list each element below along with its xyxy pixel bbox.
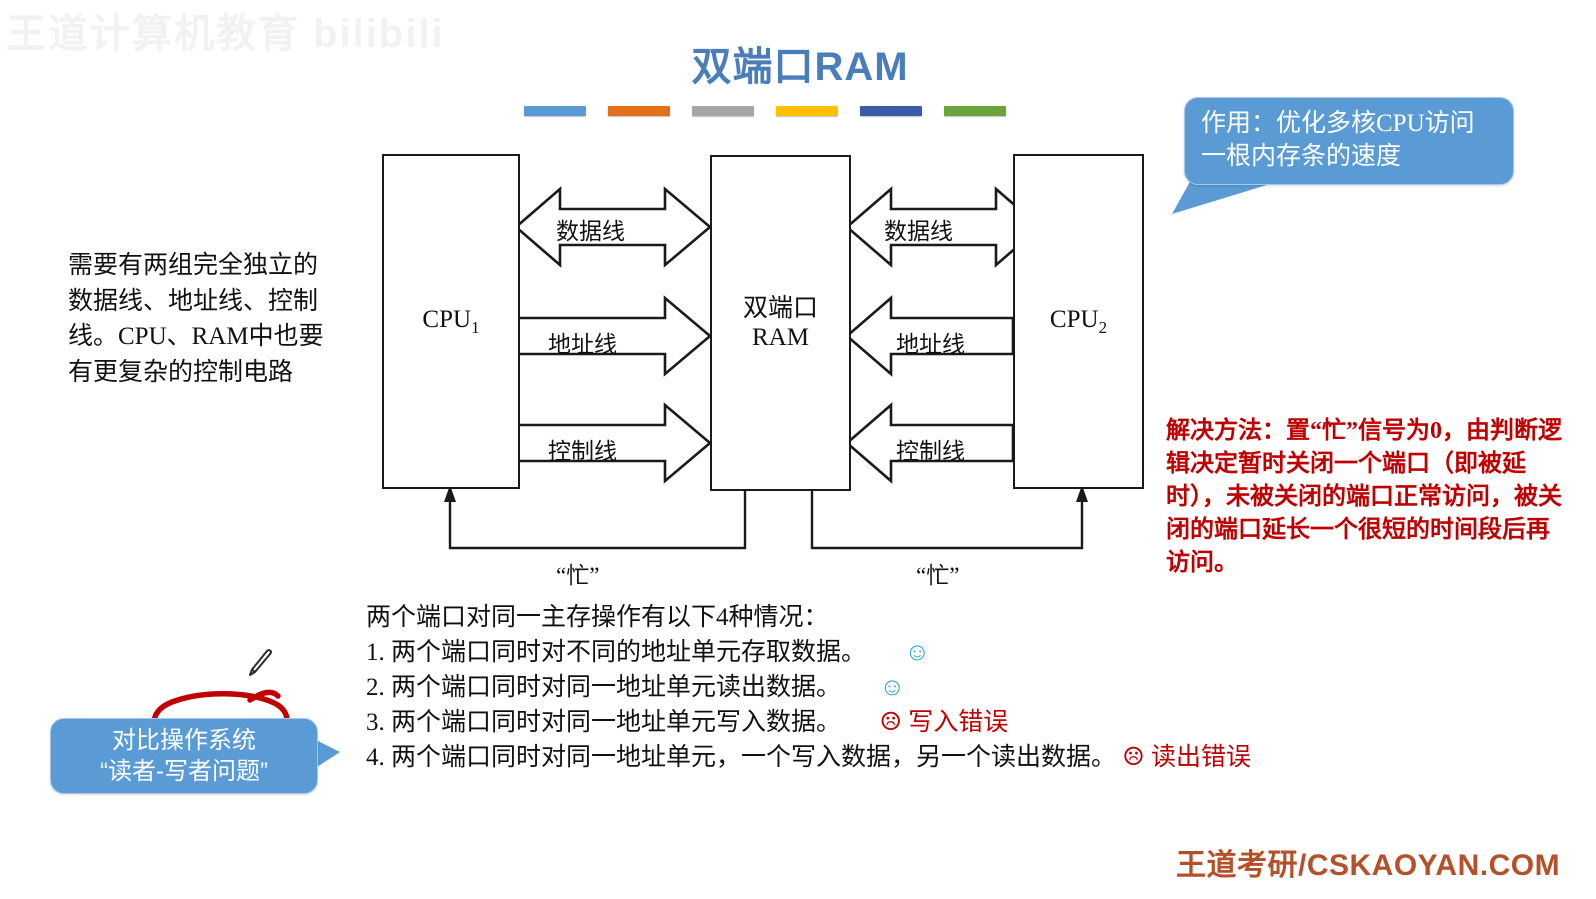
- cases-list: 两个端口对同一主存操作有以下4种情况： 1. 两个端口同时对不同的地址单元存取数…: [366, 600, 1446, 775]
- list-item-number: 1.: [366, 639, 385, 666]
- list-item-text: 两个端口同时对同一地址单元，一个写入数据，另一个读出数据。: [391, 744, 1116, 771]
- pen-cursor-icon: [246, 648, 274, 678]
- bar-gray: [692, 106, 754, 116]
- frowny-icon: ☹: [880, 709, 902, 736]
- smiley-icon: ☺: [880, 674, 906, 701]
- cpu2-label: CPU: [1050, 306, 1099, 333]
- bus-label-address-right: 地址线: [896, 325, 965, 359]
- bar-blue: [524, 106, 586, 116]
- list-item-tag: 读出错误: [1151, 744, 1251, 771]
- list-item: 1. 两个端口同时对不同的地址单元存取数据。 ☺: [366, 635, 1446, 670]
- cpu1-label: CPU: [422, 306, 471, 333]
- callout-purpose: 作用：优化多核CPU访问一根内存条的速度: [1184, 97, 1514, 185]
- list-item: 3. 两个端口同时对同一地址单元写入数据。 ☹ 写入错误: [366, 705, 1446, 740]
- bar-green: [944, 106, 1006, 116]
- bus-label-control-right: 控制线: [896, 432, 965, 466]
- list-item: 2. 两个端口同时对同一地址单元读出数据。 ☺: [366, 670, 1446, 705]
- list-item: 4. 两个端口同时对同一地址单元，一个写入数据，另一个读出数据。 ☹ 读出错误: [366, 740, 1446, 775]
- cpu2-box: CPU2: [1013, 154, 1144, 489]
- left-note-text: 需要有两组完全独立的数据线、地址线、控制线。CPU、RAM中也要有更复杂的控制电…: [68, 248, 330, 390]
- bus-label-data-left: 数据线: [556, 212, 625, 246]
- list-item-tag: 写入错误: [908, 709, 1008, 736]
- bus-label-data-right: 数据线: [884, 212, 953, 246]
- cpu1-box: CPU1: [382, 154, 520, 489]
- footer-brand: 王道考研/CSKAOYAN.COM: [1176, 840, 1560, 884]
- smiley-icon: ☺: [905, 639, 931, 666]
- slide-canvas: 王道计算机教育 bilibili 双端口RAM: [0, 0, 1596, 899]
- busy-label-left: “忙”: [556, 556, 599, 590]
- bar-orange: [608, 106, 670, 116]
- ram-label-line1: 双端口: [743, 295, 818, 322]
- cpu2-subscript: 2: [1099, 318, 1108, 337]
- bus-label-address-left: 地址线: [548, 325, 617, 359]
- watermark-logo: 王道计算机教育 bilibili: [6, 6, 356, 62]
- cases-heading: 两个端口对同一主存操作有以下4种情况：: [366, 600, 1446, 635]
- bar-navy: [860, 106, 922, 116]
- list-item-number: 3.: [366, 709, 385, 736]
- callout-bottom-line1: 对比操作系统: [61, 725, 307, 756]
- callout-bottom-line2: “读者-写者问题”: [61, 756, 307, 787]
- busy-label-right: “忙”: [916, 556, 959, 590]
- dual-port-ram-box: 双端口 RAM: [710, 155, 851, 491]
- list-item-number: 4.: [366, 744, 385, 771]
- list-item-number: 2.: [366, 674, 385, 701]
- callout-compare-os: 对比操作系统 “读者-写者问题”: [50, 718, 318, 794]
- bus-label-control-left: 控制线: [548, 432, 617, 466]
- title-color-bars: [524, 106, 1006, 116]
- red-solution-note: 解决方法：置“忙”信号为0，由判断逻辑决定暂时关闭一个端口（即被延时），未被关闭…: [1166, 415, 1566, 581]
- cpu1-subscript: 1: [471, 318, 480, 337]
- list-item-text: 两个端口同时对不同的地址单元存取数据。: [391, 639, 866, 666]
- page-title: 双端口RAM: [560, 34, 1040, 92]
- list-item-text: 两个端口同时对同一地址单元读出数据。: [391, 674, 841, 701]
- frowny-icon: ☹: [1122, 744, 1144, 771]
- ram-label-line2: RAM: [752, 324, 809, 351]
- bar-yellow: [776, 106, 838, 116]
- list-item-text: 两个端口同时对同一地址单元写入数据。: [391, 709, 841, 736]
